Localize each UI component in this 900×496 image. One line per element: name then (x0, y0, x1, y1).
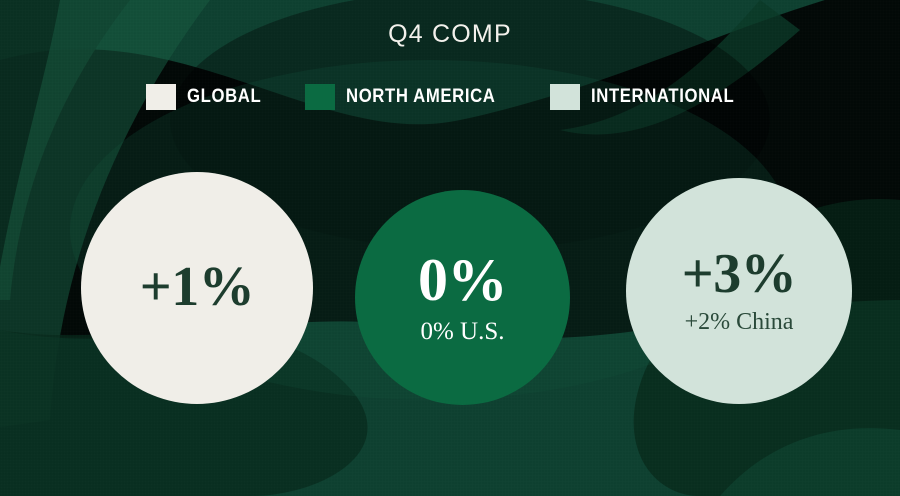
slide-canvas: Q4 COMP GLOBAL NORTH AMERICA INTERNATION… (0, 0, 900, 496)
metric-sublabel-north-america: 0% U.S. (420, 319, 504, 344)
page-title: Q4 COMP (0, 20, 900, 49)
legend-swatch-global (146, 84, 176, 110)
metric-circle-north-america[interactable]: 0% 0% U.S. (355, 190, 570, 405)
metric-circle-global[interactable]: +1% (81, 172, 313, 404)
legend-label-north-america: NORTH AMERICA (346, 86, 496, 108)
legend-label-global: GLOBAL (187, 86, 261, 108)
metric-value-global: +1% (140, 261, 254, 314)
metric-value-north-america: 0% (418, 252, 507, 309)
metric-circle-international[interactable]: +3% +2% China (626, 178, 852, 404)
legend-item-north-america[interactable]: NORTH AMERICA (305, 84, 516, 110)
metric-value-international: +3% (682, 248, 796, 301)
metric-sublabel-international: +2% China (685, 310, 794, 334)
legend-label-international: INTERNATIONAL (591, 86, 734, 108)
legend-swatch-north-america (305, 84, 335, 110)
legend-swatch-international (550, 84, 580, 110)
legend: GLOBAL NORTH AMERICA INTERNATIONAL (0, 84, 900, 110)
legend-item-international[interactable]: INTERNATIONAL (550, 84, 754, 110)
legend-item-global[interactable]: GLOBAL (146, 84, 271, 110)
